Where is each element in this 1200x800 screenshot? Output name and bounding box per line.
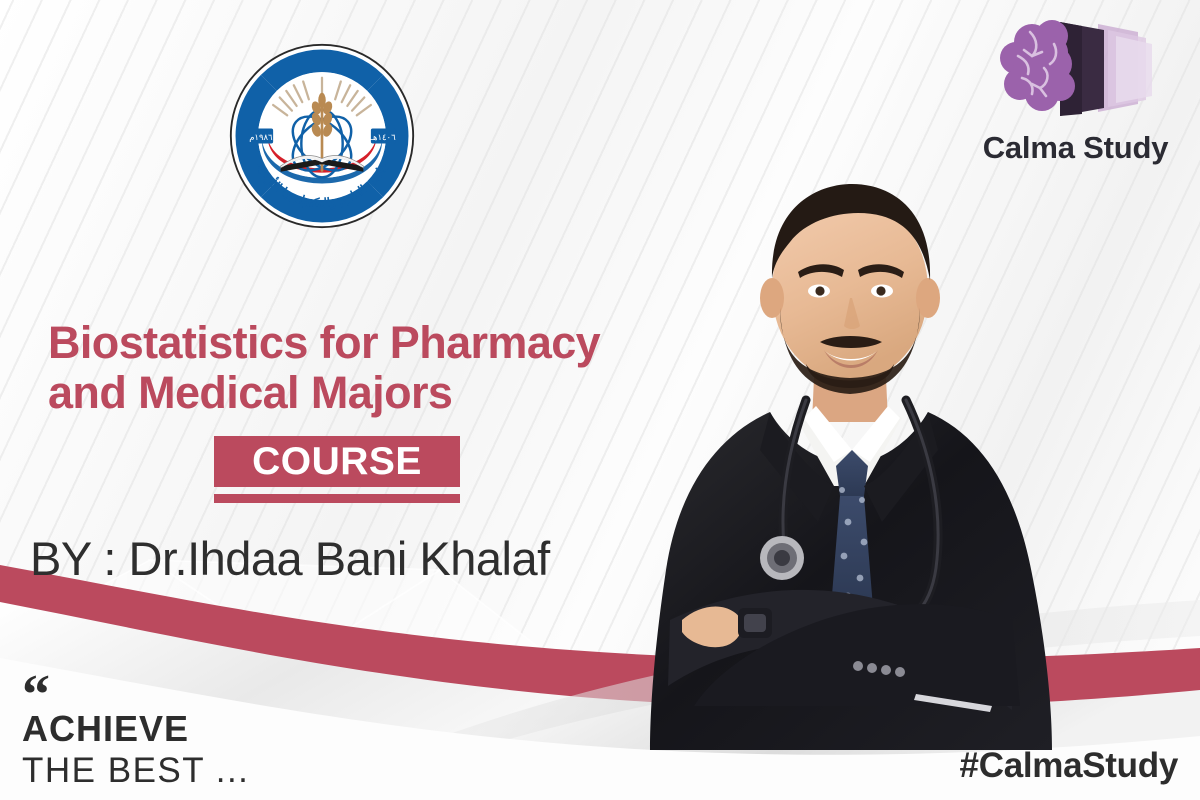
slogan-block: “ ACHIEVE THE BEST ... (22, 682, 352, 792)
course-badge-underline (214, 494, 460, 503)
course-badge-group: COURSE (214, 436, 460, 503)
quote-mark-icon: “ (22, 682, 352, 708)
svg-text:١٤٠٦هـ: ١٤٠٦هـ (370, 132, 396, 142)
just-university-crest-icon: ١٩٨٦م ١٤٠٦هـ جامعة العلوم والتكنولوجيا ا… (228, 42, 416, 230)
course-title-line-2: and Medical Majors (48, 368, 808, 418)
slogan-line-1: ACHIEVE (22, 708, 352, 750)
course-title-line-1: Biostatistics for Pharmacy (48, 318, 808, 368)
course-title: Biostatistics for Pharmacy and Medical M… (48, 318, 808, 418)
brain-book-icon (986, 8, 1166, 128)
slogan-line-2: THE BEST ... (22, 750, 352, 792)
course-badge: COURSE (214, 436, 460, 487)
course-promo-banner: ١٩٨٦م ١٤٠٦هـ جامعة العلوم والتكنولوجيا ا… (0, 0, 1200, 800)
presenter-photo (620, 150, 1090, 750)
svg-text:١٩٨٦م: ١٩٨٦م (249, 132, 272, 142)
instructor-byline: BY : Dr.Ihdaa Bani Khalaf (30, 530, 550, 588)
brand-hashtag: #CalmaStudy (960, 746, 1178, 786)
